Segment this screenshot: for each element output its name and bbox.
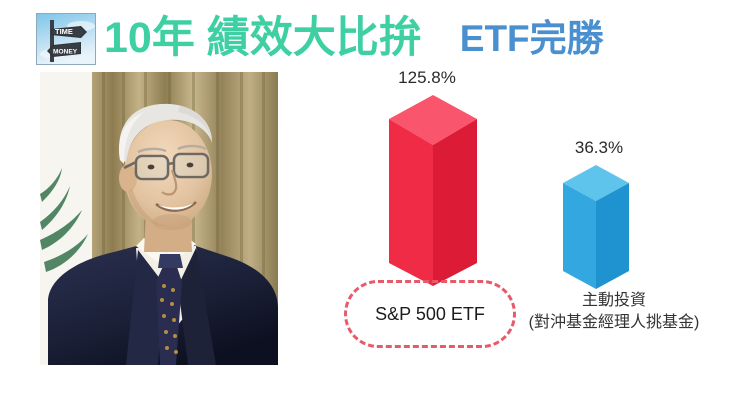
title-main-text: 10年 績效大比拚 [104,17,422,60]
bar-value-sp500: 125.8% [357,68,497,88]
warren-buffett-photo [40,72,278,365]
bar-label-sp500: S&P 500 ETF [373,304,487,325]
slide-title: 10年 績效大比拚 ETF完勝 [104,8,604,68]
svg-text:MONEY: MONEY [53,49,78,56]
bar-column-active [561,163,631,291]
title-sub-text: ETF完勝 [460,20,604,57]
bar-label-active-group: 主動投資 (對沖基金經理人挑基金) [490,290,738,333]
comparison-bar-chart: 125.8% 36.3% [330,60,730,360]
bar-sublabel-active: (對沖基金經理人挑基金) [490,312,738,334]
time-money-signpost-icon: TIME MONEY [36,13,96,65]
svg-text:TIME: TIME [55,27,73,36]
bar-value-active: 36.3% [529,138,669,158]
bar-column-sp500 [387,93,479,288]
bar-label-active: 主動投資 [490,290,738,312]
slide-canvas: TIME MONEY 10年 績效大比拚 ETF完勝 [0,0,740,416]
